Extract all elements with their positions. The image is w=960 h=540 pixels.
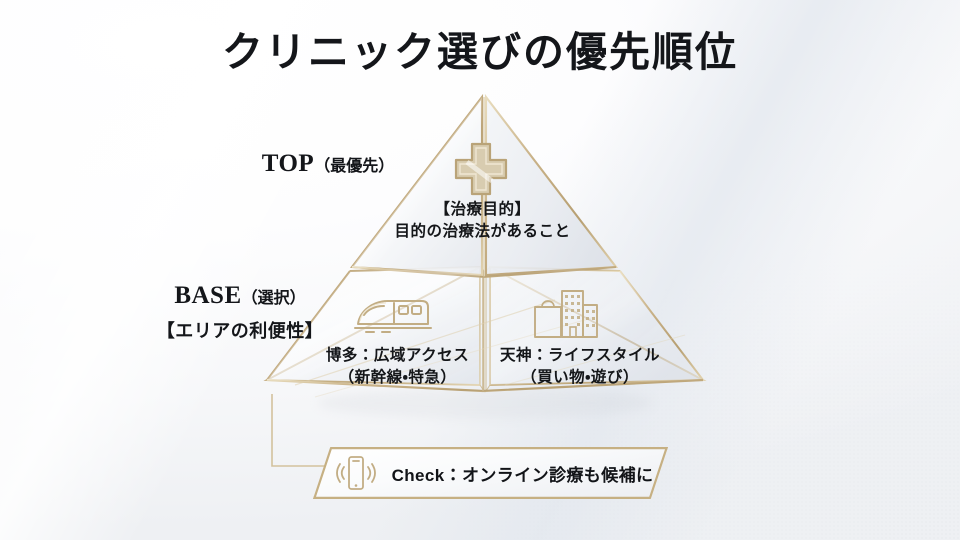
label-top-japanese: （最優先） bbox=[314, 158, 394, 175]
smartphone-signal-icon bbox=[334, 453, 378, 493]
label-base-japanese: （選択） bbox=[242, 290, 306, 307]
shopping-bag-buildings-icon bbox=[529, 285, 601, 341]
tier-right-line1: 天神：ライフスタイル bbox=[480, 345, 680, 367]
tier-top-line2: 目的の治療法があること bbox=[370, 221, 595, 243]
label-base-subtitle: 【エリアの利便性】 bbox=[140, 317, 340, 343]
medical-cross-icon bbox=[452, 140, 510, 198]
check-bar-label: Check：オンライン診療も候補に bbox=[392, 461, 654, 486]
tier-left-line1: 博多：広域アクセス bbox=[300, 345, 495, 367]
slide-canvas: クリニック選びの優先順位 bbox=[0, 0, 960, 540]
label-top-latin: TOP bbox=[262, 150, 314, 177]
tier-right-line2: （買い物・遊び） bbox=[480, 367, 680, 389]
tier-text-top: 【治療目的】 目的の治療法があること bbox=[370, 199, 595, 243]
label-top-tier: TOP（最優先） bbox=[243, 150, 413, 178]
tier-left-line2: （新幹線・特急） bbox=[300, 367, 495, 389]
page-title: クリニック選びの優先順位 bbox=[0, 18, 960, 78]
tier-text-right: 天神：ライフスタイル （買い物・遊び） bbox=[480, 345, 680, 389]
label-base-tier: BASE（選択） 【エリアの利便性】 bbox=[140, 282, 340, 343]
tier-text-left: 博多：広域アクセス （新幹線・特急） bbox=[300, 345, 495, 389]
check-callout-bar: Check：オンライン診療も候補に bbox=[313, 447, 668, 499]
label-base-latin: BASE bbox=[174, 282, 241, 309]
shinkansen-train-icon bbox=[352, 291, 434, 339]
tier-top-line1: 【治療目的】 bbox=[370, 199, 595, 221]
